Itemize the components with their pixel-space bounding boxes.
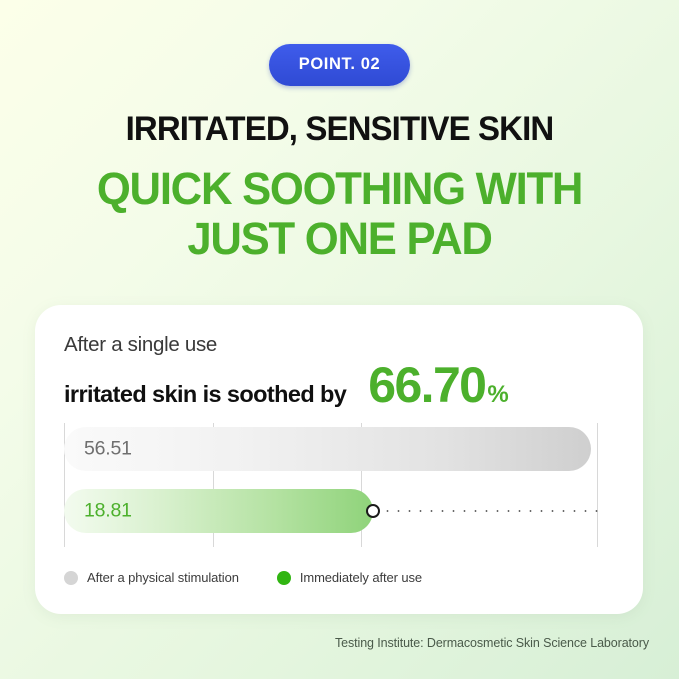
footnote-testing-institute: Testing Institute: Dermacosmetic Skin Sc… bbox=[335, 636, 649, 650]
highlight-value: 66.70 bbox=[368, 360, 485, 410]
subheading-black: IRRITATED, SENSITIVE SKIN bbox=[10, 110, 669, 149]
marker-dot-icon bbox=[366, 504, 380, 518]
legend-item-physical-stimulation: After a physical stimulation bbox=[64, 570, 239, 585]
bar-value-immediately-after-use: 18.81 bbox=[84, 500, 132, 523]
bar-row-physical-stimulation: 56.51 bbox=[64, 427, 626, 471]
stats-card: After a single use irritated skin is soo… bbox=[35, 305, 643, 614]
legend-dot-gray-icon bbox=[64, 571, 78, 585]
bar-row-immediately-after-use: 18.81 bbox=[64, 489, 626, 533]
bar-chart: 56.51 18.81 bbox=[64, 423, 626, 547]
chart-legend: After a physical stimulation Immediately… bbox=[64, 570, 460, 585]
bar-physical-stimulation: 56.51 bbox=[64, 427, 591, 471]
bar-immediately-after-use: 18.81 bbox=[64, 489, 373, 533]
dotted-reference-line bbox=[382, 510, 598, 512]
legend-label-immediately-after-use: Immediately after use bbox=[300, 570, 422, 585]
card-statement-text: irritated skin is soothed by bbox=[64, 381, 346, 408]
bar-value-physical-stimulation: 56.51 bbox=[84, 438, 132, 461]
legend-item-immediately-after-use: Immediately after use bbox=[277, 570, 422, 585]
highlight-unit: % bbox=[487, 381, 508, 409]
legend-label-physical-stimulation: After a physical stimulation bbox=[87, 570, 239, 585]
headline-line-1: QUICK SOOTHING WITH bbox=[10, 164, 669, 214]
badge-container: POINT. 02 bbox=[0, 44, 679, 86]
legend-dot-green-icon bbox=[277, 571, 291, 585]
card-statement-row: irritated skin is soothed by 66.70 % bbox=[64, 360, 509, 410]
headline-line-2: JUST ONE PAD bbox=[10, 214, 669, 264]
headline-green: QUICK SOOTHING WITH JUST ONE PAD bbox=[10, 164, 669, 264]
card-intro-text: After a single use bbox=[64, 333, 217, 357]
point-badge: POINT. 02 bbox=[269, 44, 411, 86]
